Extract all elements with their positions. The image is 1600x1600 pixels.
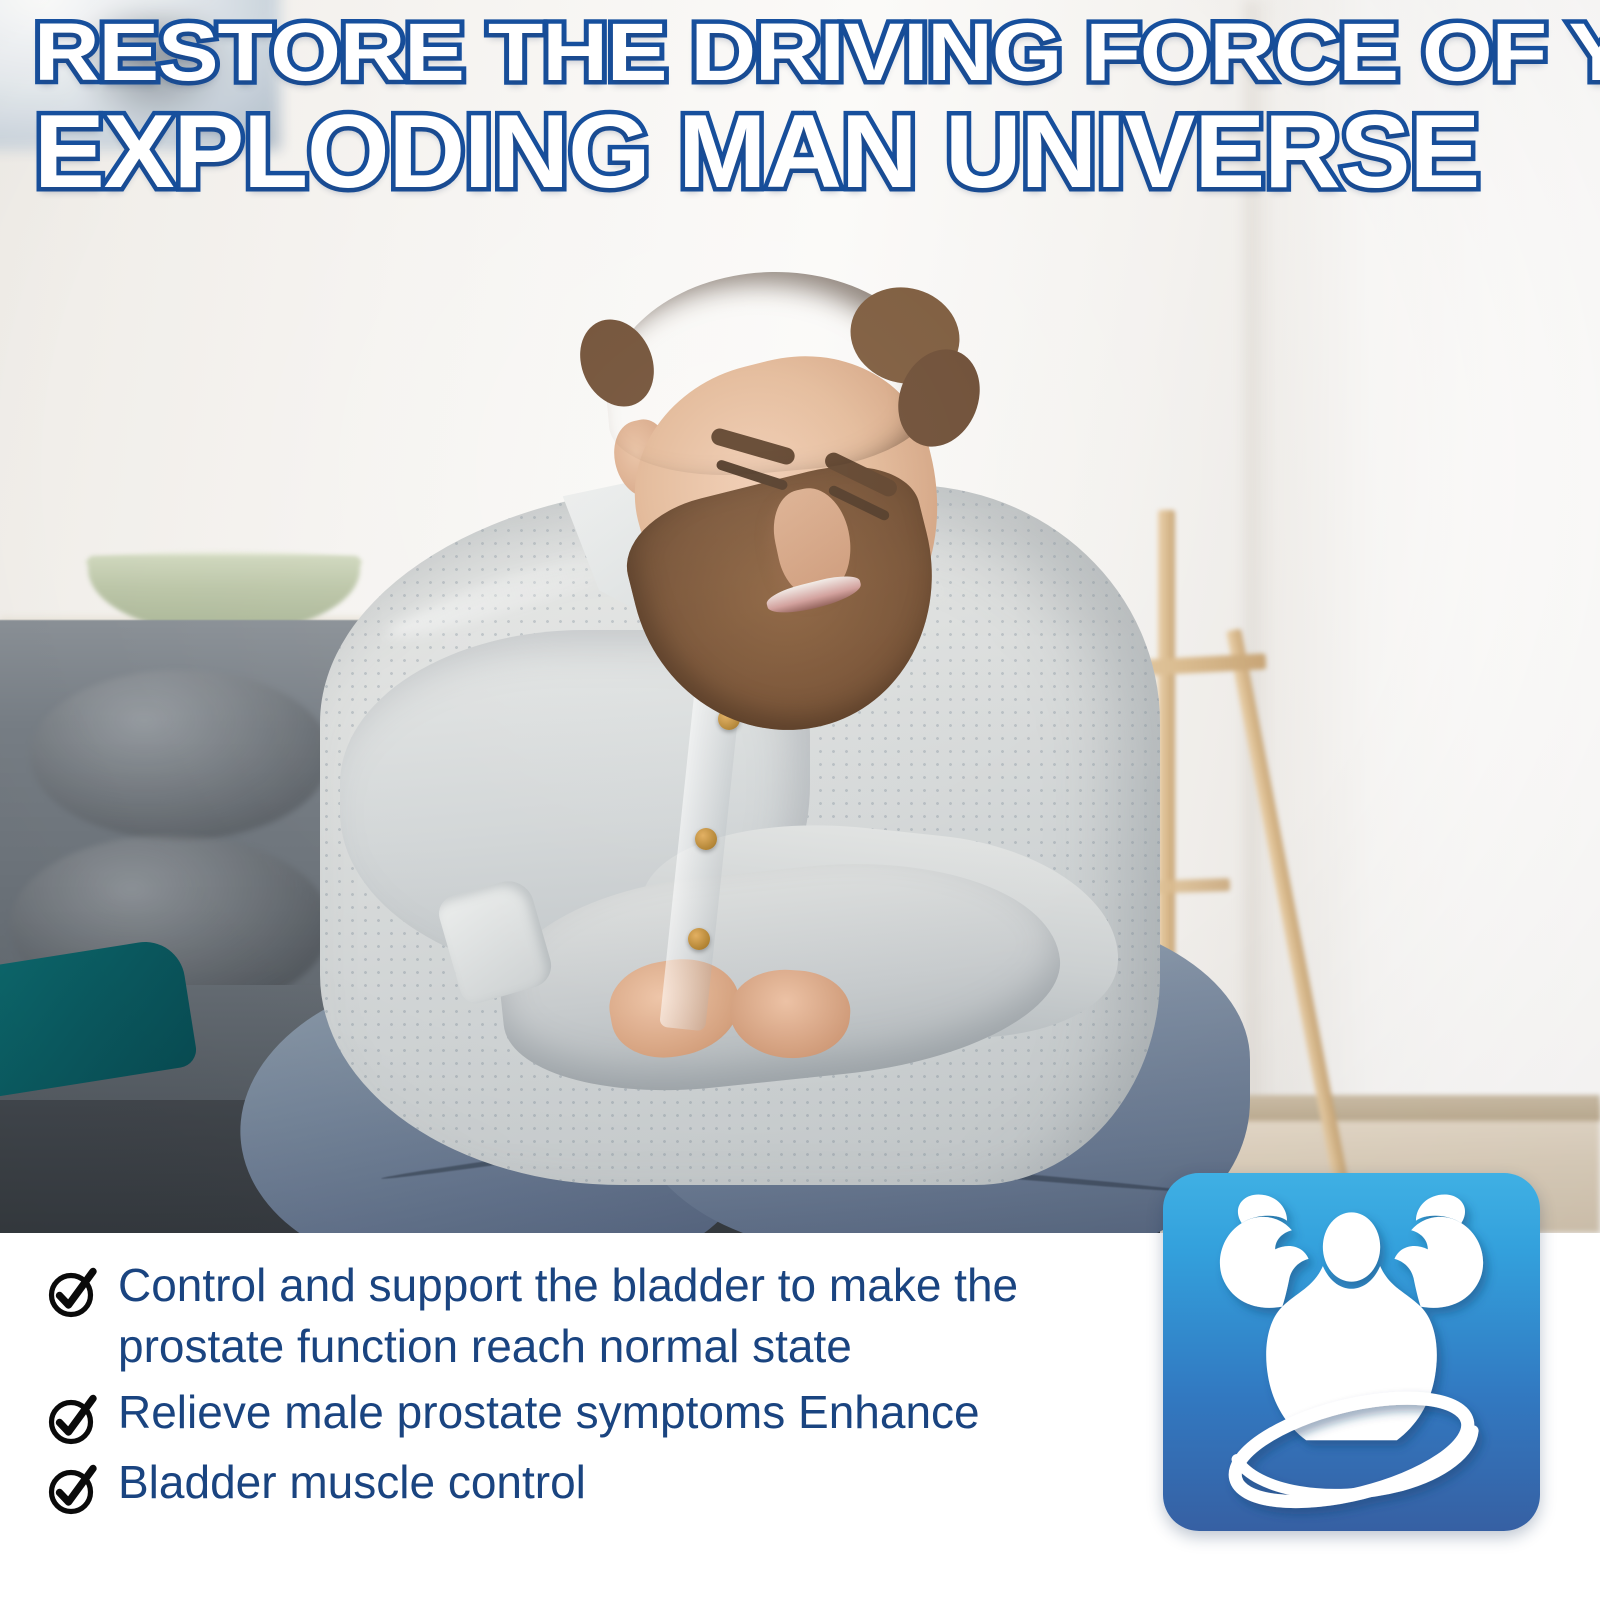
list-item-label: Bladder muscle control: [118, 1452, 586, 1513]
headline-line-2: EXPLODING MAN UNIVERSE: [34, 99, 1600, 205]
man-figure: [210, 270, 1210, 1233]
brand-logo-badge: [1163, 1173, 1540, 1531]
benefits-list: Control and support the bladder to make …: [46, 1255, 1136, 1522]
check-circle-icon: [46, 1392, 100, 1446]
bodybuilder-flexing-icon: [1163, 1173, 1540, 1531]
shirt-button: [695, 828, 717, 850]
product-ad-card: RESTORE THE DRIVING FORCE OF YOUTH EXPLO…: [0, 0, 1600, 1600]
headline-line-1: RESTORE THE DRIVING FORCE OF YOUTH: [34, 14, 1600, 93]
list-item-label: Control and support the bladder to make …: [118, 1255, 1136, 1376]
shirt-button: [688, 928, 710, 950]
list-item: Control and support the bladder to make …: [46, 1255, 1136, 1376]
list-item-label: Relieve male prostate symptoms Enhance: [118, 1382, 980, 1443]
headline: RESTORE THE DRIVING FORCE OF YOUTH EXPLO…: [0, 0, 1600, 205]
list-item: Relieve male prostate symptoms Enhance: [46, 1382, 1136, 1446]
check-circle-icon: [46, 1462, 100, 1516]
list-item: Bladder muscle control: [46, 1452, 1136, 1516]
check-circle-icon: [46, 1265, 100, 1319]
